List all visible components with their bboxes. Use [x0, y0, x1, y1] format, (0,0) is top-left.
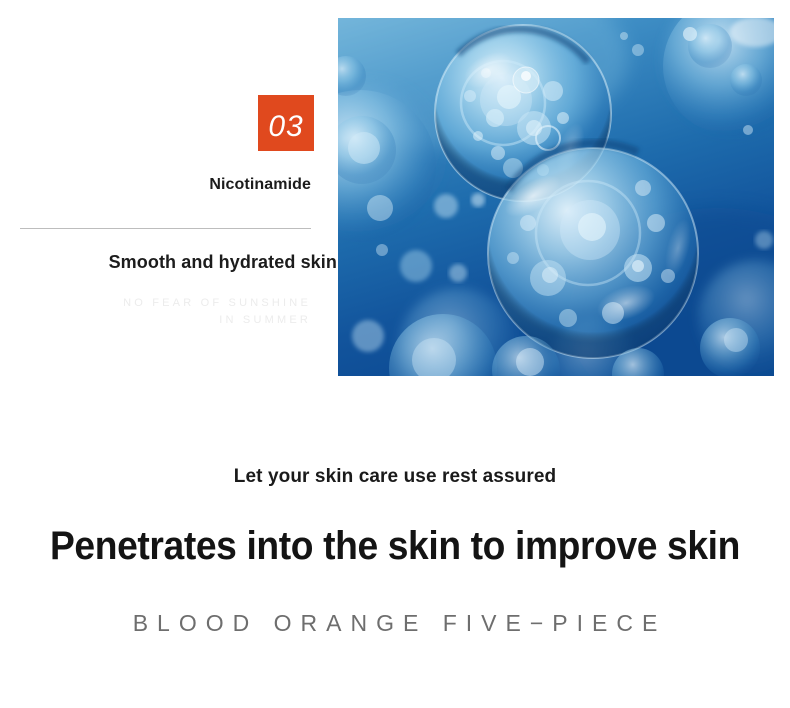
- watermark-line-2: IN SUMMER: [0, 312, 311, 329]
- footer-headline: Penetrates into the skin to improve skin: [28, 524, 763, 569]
- benefit-headline: Smooth and hydrated skin: [0, 252, 337, 273]
- hero-bubble-photo: [338, 18, 774, 376]
- watermark-line-1: NO FEAR OF SUNSHINE: [0, 295, 311, 312]
- footer-subheading: Let your skin care use rest assured: [0, 466, 790, 488]
- step-number-badge: 03: [258, 95, 314, 151]
- water-bubbles-photo: [338, 18, 774, 376]
- watermark-text: NO FEAR OF SUNSHINE IN SUMMER: [0, 295, 311, 329]
- section-divider: [20, 228, 311, 229]
- ingredient-name: Nicotinamide: [0, 176, 311, 194]
- product-name-caption: BLOOD ORANGE FIVE−PIECE: [0, 610, 790, 637]
- promo-page: 03 Nicotinamide Smooth and hydrated skin…: [0, 0, 790, 708]
